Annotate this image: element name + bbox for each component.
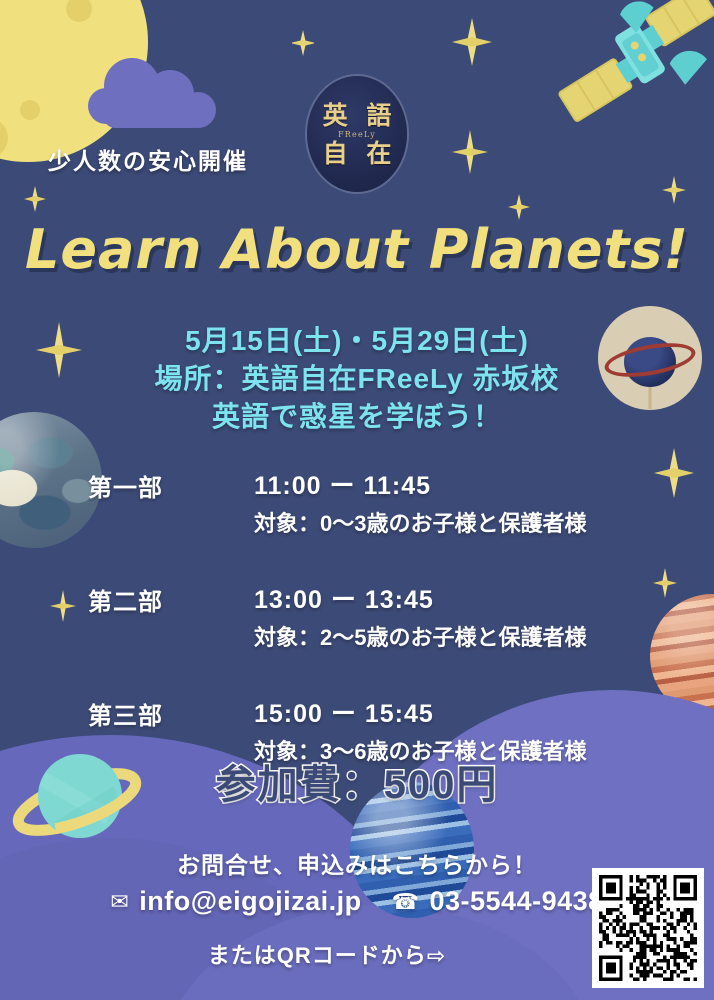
schedule-time: 13:00 ー 13:45: [254, 580, 668, 616]
logo-line-1: 英 語: [318, 103, 397, 128]
qr-code-image[interactable]: [592, 868, 704, 988]
phone-icon: ☎: [392, 889, 420, 915]
page-title: Learn About Planets!: [0, 218, 714, 281]
schedule-target: 対象：0〜3歳のお子様と保護者様: [254, 506, 668, 538]
poster-canvas: 英 語 FReeLy 自 在 少人数の安心開催 Learn About Plan…: [0, 0, 714, 1000]
star-icon: [508, 194, 530, 220]
schedule-row: 第二部 13:00 ー 13:45 対象：2〜5歳のお子様と保護者様: [88, 580, 668, 652]
contact-email[interactable]: info@eigojizai.jp: [139, 886, 361, 917]
schedule-target: 対象：2〜5歳のお子様と保護者様: [254, 620, 668, 652]
schedule-time: 11:00 ー 11:45: [254, 466, 668, 502]
logo-badge[interactable]: 英 語 FReeLy 自 在: [307, 76, 407, 192]
cloud-shape: [84, 58, 224, 130]
contact-phone[interactable]: 03-5544-9438: [430, 886, 604, 917]
price-label: 参加費：500円: [0, 752, 714, 810]
tagline: 少人数の安心開催: [48, 142, 248, 176]
mail-icon: ✉: [110, 889, 129, 915]
logo-line-2: 自 在: [318, 141, 397, 166]
star-icon: [292, 30, 314, 56]
star-icon: [24, 186, 46, 212]
schedule-part-label: 第一部: [88, 466, 254, 538]
event-dates: 5月15日(土)・5月29日(土): [0, 322, 714, 360]
event-theme: 英語で惑星を学ぼう！: [0, 398, 714, 436]
star-icon: [50, 590, 76, 622]
star-icon: [452, 130, 488, 174]
star-icon: [662, 176, 686, 204]
schedule-part-label: 第二部: [88, 580, 254, 652]
satellite-icon: [552, 0, 714, 136]
event-location: 場所：英語自在FReeLy 赤坂校: [0, 360, 714, 398]
star-icon: [452, 18, 492, 66]
event-info: 5月15日(土)・5月29日(土) 場所：英語自在FReeLy 赤坂校 英語で惑…: [0, 322, 714, 436]
schedule-list: 第一部 11:00 ー 11:45 対象：0〜3歳のお子様と保護者様 第二部 1…: [88, 466, 668, 766]
schedule-time: 15:00 ー 15:45: [254, 694, 668, 730]
logo-subtitle: FReeLy: [338, 130, 376, 139]
schedule-row: 第一部 11:00 ー 11:45 対象：0〜3歳のお子様と保護者様: [88, 466, 668, 538]
